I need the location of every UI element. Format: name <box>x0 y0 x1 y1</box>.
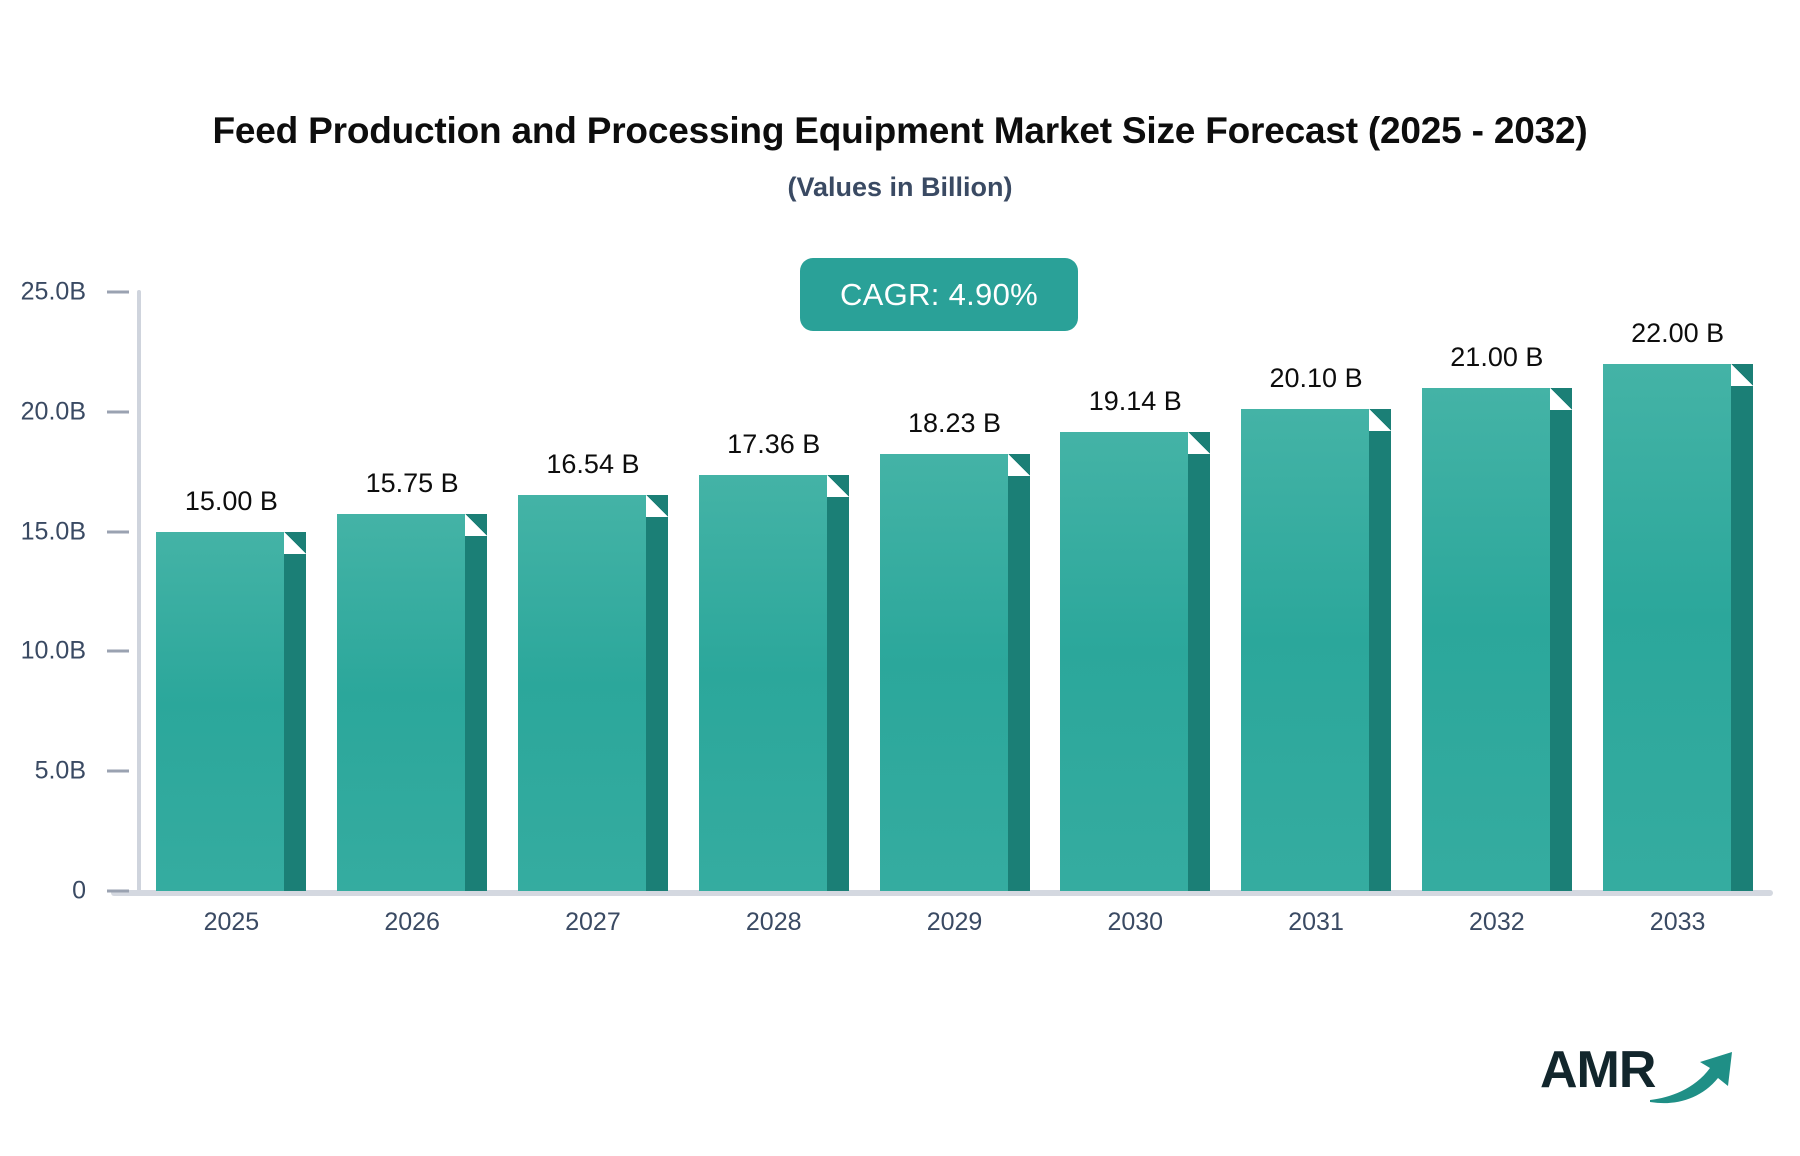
bar-side-face <box>827 497 849 891</box>
plot-area: 25.0B20.0B15.0B10.0B5.0B0 20252026202720… <box>0 0 1800 1156</box>
bar: 15.75 B <box>337 514 487 891</box>
x-axis-tick-label: 2033 <box>1650 908 1706 937</box>
y-axis-tick-mark <box>107 770 129 773</box>
bar-top-face <box>465 514 487 558</box>
y-axis-tick-mark <box>107 410 129 413</box>
trend-up-arrow-icon <box>1648 1048 1738 1113</box>
bar-value-label: 17.36 B <box>727 429 820 460</box>
bar: 21.00 B <box>1422 388 1572 891</box>
x-axis-tick-label: 2030 <box>1107 908 1163 937</box>
bar-value-label: 16.54 B <box>546 449 639 480</box>
bar-front-face <box>1241 409 1369 891</box>
bar-side-face <box>1550 410 1572 891</box>
x-axis-tick-label: 2027 <box>565 908 621 937</box>
bar-front-face <box>1603 364 1731 891</box>
bar-front-face <box>518 495 646 891</box>
x-axis-tick-label: 2025 <box>204 908 260 937</box>
bar-front-face <box>1422 388 1550 891</box>
y-axis-tick-label: 25.0B <box>21 278 86 307</box>
bar-top-face <box>1550 388 1572 432</box>
bar-front-face <box>156 532 284 891</box>
y-axis-tick-mark <box>107 650 129 653</box>
amr-logo-text: AMR <box>1540 1040 1655 1100</box>
bar: 19.14 B <box>1060 432 1210 891</box>
bar-front-face <box>699 475 827 891</box>
bar-top-face <box>1731 364 1753 408</box>
y-axis-tick-label: 20.0B <box>21 397 86 426</box>
bar-top-face <box>1369 409 1391 453</box>
x-axis-tick-label: 2029 <box>927 908 983 937</box>
bar-side-face <box>1731 386 1753 891</box>
bar: 17.36 B <box>699 475 849 891</box>
y-axis-tick-label: 5.0B <box>35 757 86 786</box>
bar-top-face <box>1188 432 1210 476</box>
bar-value-label: 21.00 B <box>1450 342 1543 373</box>
bar-value-label: 19.14 B <box>1089 386 1182 417</box>
bar-top-face <box>1008 454 1030 498</box>
bar-side-face <box>1008 476 1030 891</box>
bar: 18.23 B <box>880 454 1030 891</box>
bar-top-face <box>284 532 306 576</box>
y-axis-tick-label: 0 <box>72 877 86 906</box>
y-axis-tick-label: 15.0B <box>21 517 86 546</box>
bar-side-face <box>284 554 306 891</box>
amr-logo: AMR <box>1540 1040 1740 1120</box>
bar-value-label: 20.10 B <box>1270 363 1363 394</box>
bar-value-label: 15.75 B <box>366 468 459 499</box>
bar-value-label: 15.00 B <box>185 486 278 517</box>
bar-side-face <box>465 536 487 891</box>
bar-value-label: 18.23 B <box>908 408 1001 439</box>
bar-side-face <box>1188 454 1210 891</box>
bar: 16.54 B <box>518 495 668 891</box>
bar-front-face <box>1060 432 1188 891</box>
bar: 20.10 B <box>1241 409 1391 891</box>
x-axis-tick-label: 2028 <box>746 908 802 937</box>
bar-front-face <box>880 454 1008 891</box>
y-axis-tick-mark <box>107 890 129 893</box>
x-axis-tick-label: 2031 <box>1288 908 1344 937</box>
bar-top-face <box>646 495 668 539</box>
x-axis-tick-label: 2032 <box>1469 908 1525 937</box>
y-axis-tick-mark <box>107 291 129 294</box>
bar-side-face <box>646 517 668 891</box>
bar-front-face <box>337 514 465 891</box>
y-axis-tick-label: 10.0B <box>21 637 86 666</box>
bar: 22.00 B <box>1603 364 1753 891</box>
chart-container: Feed Production and Processing Equipment… <box>0 0 1800 1156</box>
y-axis-tick-mark <box>107 530 129 533</box>
bar-top-face <box>827 475 849 519</box>
x-axis-tick-label: 2026 <box>384 908 440 937</box>
bar: 15.00 B <box>156 532 306 891</box>
bar-value-label: 22.00 B <box>1631 318 1724 349</box>
y-axis-line <box>137 290 141 892</box>
bar-side-face <box>1369 431 1391 891</box>
